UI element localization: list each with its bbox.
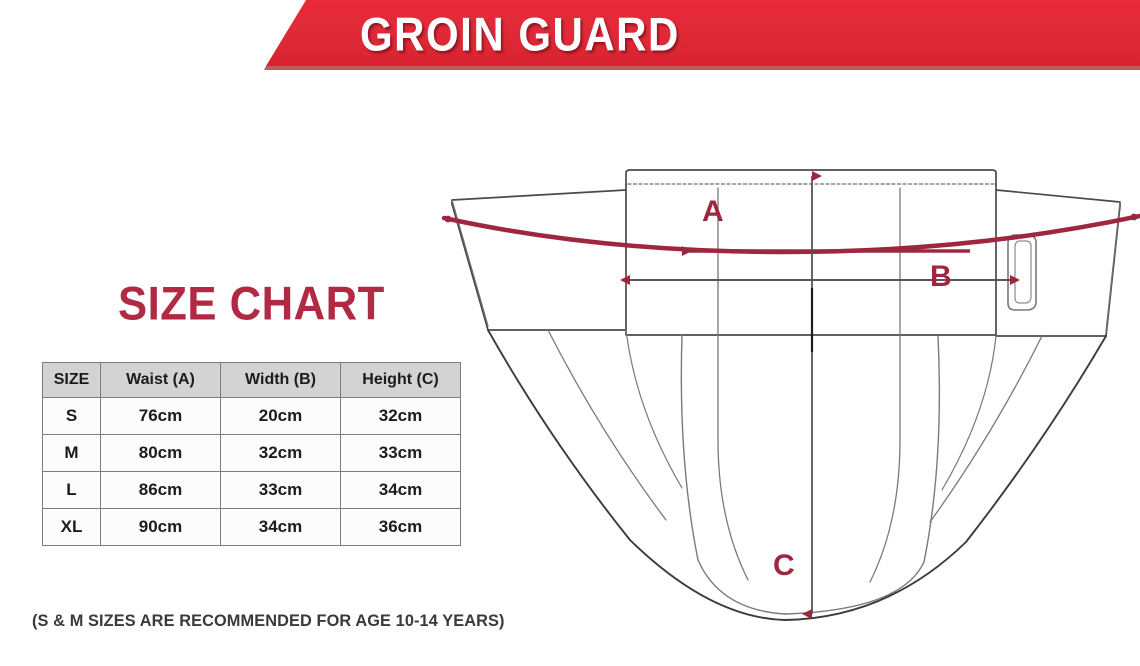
cell-width: 20cm bbox=[221, 398, 341, 435]
cup-outline-right bbox=[785, 336, 939, 614]
column-header-size: SIZE bbox=[43, 363, 101, 398]
table-row: S 76cm 20cm 32cm bbox=[43, 398, 461, 435]
cell-width: 34cm bbox=[221, 509, 341, 546]
column-header-width: Width (B) bbox=[221, 363, 341, 398]
cell-waist: 76cm bbox=[101, 398, 221, 435]
left-hip-top-edge bbox=[452, 190, 626, 204]
cell-width: 33cm bbox=[221, 472, 341, 509]
cell-size: S bbox=[43, 398, 101, 435]
left-leg-outer-edge bbox=[488, 330, 785, 620]
right-panel-seam bbox=[942, 336, 996, 490]
cell-size: L bbox=[43, 472, 101, 509]
table-row: M 80cm 32cm 33cm bbox=[43, 435, 461, 472]
strap-loop-outer bbox=[1008, 235, 1036, 310]
banner-background-shape bbox=[0, 0, 1140, 72]
cup-outline-left bbox=[681, 335, 785, 614]
cell-size: XL bbox=[43, 509, 101, 546]
waist-curve-end-left bbox=[445, 216, 452, 223]
right-hip-top-edge bbox=[996, 190, 1120, 206]
table-row: L 86cm 33cm 34cm bbox=[43, 472, 461, 509]
size-chart-heading: SIZE CHART bbox=[118, 276, 385, 331]
left-panel-seam bbox=[626, 330, 682, 488]
cup-seam-left bbox=[718, 188, 748, 580]
size-chart-table: SIZE Waist (A) Width (B) Height (C) S 76… bbox=[42, 362, 461, 546]
waist-curve-end-right bbox=[1131, 214, 1138, 221]
right-leg-inner-seam bbox=[930, 336, 1042, 522]
cell-waist: 90cm bbox=[101, 509, 221, 546]
right-leg-outer-edge bbox=[785, 336, 1106, 620]
product-diagram: A B C bbox=[430, 140, 1140, 640]
strap-loop-inner bbox=[1015, 241, 1031, 303]
column-header-waist: Waist (A) bbox=[101, 363, 221, 398]
header-banner: GROIN GUARD bbox=[0, 0, 1140, 72]
waistband-outline bbox=[626, 170, 996, 185]
page-title: GROIN GUARD bbox=[360, 8, 680, 62]
dimension-label-c: C bbox=[773, 549, 795, 583]
dimension-label-b: B bbox=[930, 260, 952, 294]
cell-waist: 80cm bbox=[101, 435, 221, 472]
dimension-label-a: A bbox=[702, 195, 724, 229]
cell-waist: 86cm bbox=[101, 472, 221, 509]
cell-size: M bbox=[43, 435, 101, 472]
table-header-row: SIZE Waist (A) Width (B) Height (C) bbox=[43, 363, 461, 398]
left-leg-inner-seam bbox=[548, 330, 666, 520]
cell-width: 32cm bbox=[221, 435, 341, 472]
table-row: XL 90cm 34cm 36cm bbox=[43, 509, 461, 546]
